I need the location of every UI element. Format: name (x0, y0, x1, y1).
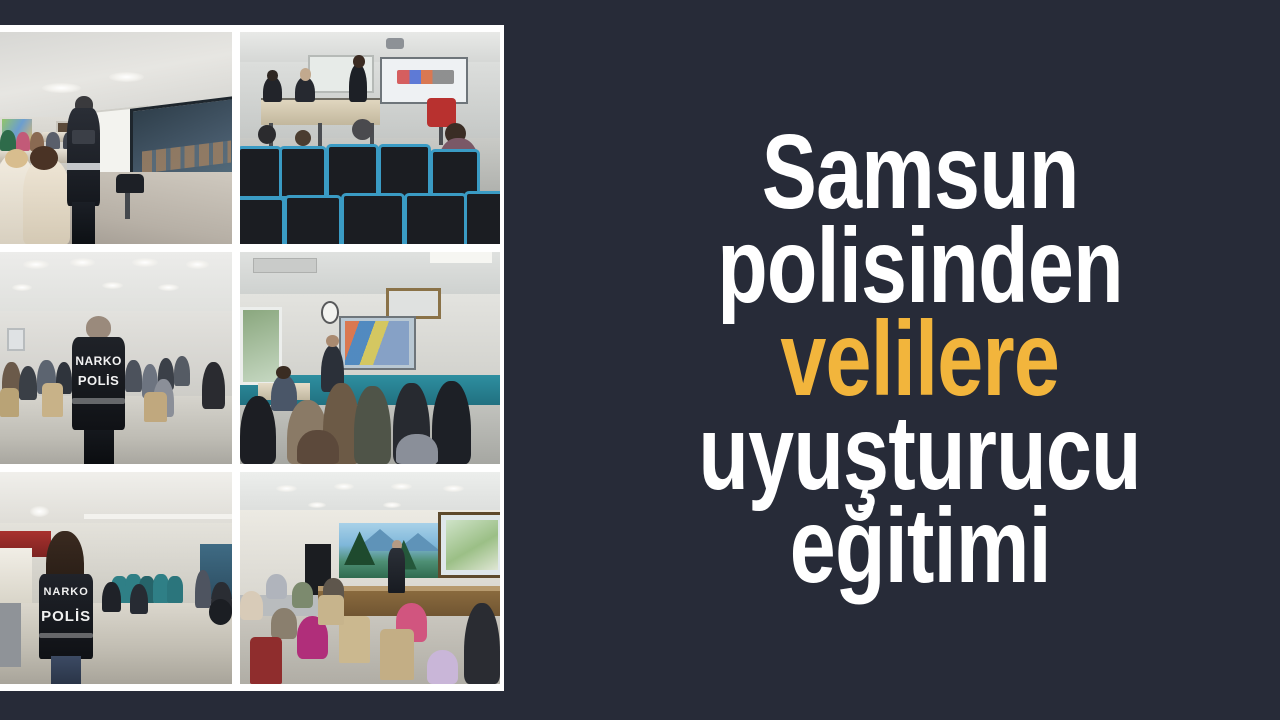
presentation-screen (380, 57, 467, 103)
chair (318, 595, 344, 625)
audience-headscarf (292, 582, 313, 607)
wheelchair-icon (209, 599, 232, 624)
chair (0, 388, 19, 418)
audience-head (5, 149, 28, 168)
theater-seat (284, 195, 342, 244)
collage-photo-3[interactable]: NARKO POLİS (0, 252, 232, 464)
photo-collage-grid: NARKO POLİS (0, 32, 499, 684)
theater-seat (464, 191, 500, 244)
floor (0, 603, 232, 684)
officer-legs (51, 656, 81, 684)
chair (116, 174, 144, 193)
audience-person (19, 366, 38, 400)
uniform-badge (72, 130, 95, 145)
officer-head (86, 316, 112, 339)
collage-photo-6[interactable] (240, 472, 500, 684)
chair-leg (125, 193, 130, 218)
presenter-head (353, 55, 365, 68)
ceiling (240, 472, 500, 514)
wall-clock-icon (321, 301, 339, 324)
ceiling-light-panel (430, 252, 492, 263)
ceiling-lamp-icon (109, 72, 144, 82)
presentation-screen (438, 512, 500, 577)
ceiling-lamp-icon (443, 485, 464, 492)
vest-text-polis: POLİS (72, 373, 125, 388)
ceiling (0, 472, 232, 527)
audience-person (354, 386, 390, 464)
ceiling-lamp-icon (308, 502, 326, 508)
ceiling-lamp-icon (102, 282, 123, 289)
ceiling-lamp-icon (132, 258, 158, 266)
audience-head (276, 366, 290, 379)
ceiling-lamp-icon (158, 284, 179, 291)
chair (144, 392, 167, 422)
ceiling-lamp-icon (23, 260, 49, 268)
news-card-root: NARKO POLİS (0, 0, 1280, 720)
chair (42, 383, 63, 417)
audience-person (16, 132, 30, 151)
headline-block: Samsun polisinden velilere uyuşturucu eğ… (540, 0, 1280, 720)
audience-headscarf (271, 608, 297, 640)
ceiling-lamp-icon (186, 260, 209, 268)
chair (250, 637, 281, 684)
officer-legs (84, 430, 114, 464)
officer-body (67, 108, 99, 206)
theater-seat (341, 193, 404, 244)
audience-person (174, 356, 190, 386)
ceiling-lamp-icon (334, 483, 355, 490)
photo-collage-frame: NARKO POLİS (0, 25, 504, 691)
audience-headscarf (240, 591, 263, 621)
officer-person (388, 548, 405, 593)
audience-person (125, 360, 141, 392)
vest-text-narko: NARKO (39, 586, 92, 598)
window-curtain (0, 548, 32, 603)
audience-person (102, 582, 121, 612)
wall-panel (7, 328, 25, 351)
ceiling-lamp-icon (70, 258, 96, 266)
reflective-stripe (39, 633, 92, 638)
ceiling-lamp-icon (391, 483, 412, 490)
projector-icon (386, 38, 404, 49)
chair (380, 629, 414, 680)
cabinet (0, 603, 21, 667)
ceiling-lamp-icon (30, 506, 49, 517)
presenter-head (326, 335, 339, 348)
officer-belt (67, 163, 99, 169)
panel-head (267, 70, 277, 81)
audience-person (130, 584, 149, 614)
collage-photo-5[interactable]: NARKO POLİS (0, 472, 232, 684)
headline-line-5: eğitimi (789, 498, 1050, 596)
ceiling-beam (84, 514, 232, 518)
vest-text-narko: NARKO (72, 354, 125, 368)
audience-person (297, 430, 339, 464)
ceiling-lamp-icon (383, 502, 401, 508)
theater-seat (240, 146, 282, 199)
panel-head (300, 68, 312, 81)
presentation-screen (339, 316, 416, 371)
audience-person (202, 362, 225, 409)
theater-seat (279, 146, 327, 199)
audience-person (271, 375, 297, 411)
audience-person (396, 434, 438, 464)
audience-person (464, 603, 500, 684)
audience-person-foreground (23, 159, 69, 244)
theater-seat (240, 197, 285, 244)
theater-seat (404, 193, 467, 244)
audience-headscarf (427, 650, 458, 684)
collage-photo-1[interactable] (0, 32, 232, 244)
audience-headscarf (266, 574, 287, 599)
ceiling-vent (253, 258, 317, 273)
vest-text-polis: POLİS (39, 608, 92, 625)
reflective-stripe (72, 398, 125, 403)
collage-photo-4[interactable] (240, 252, 500, 464)
audience-head (30, 146, 58, 169)
audience-head (352, 119, 373, 140)
officer-legs (72, 202, 95, 244)
collage-photo-2[interactable] (240, 32, 500, 244)
